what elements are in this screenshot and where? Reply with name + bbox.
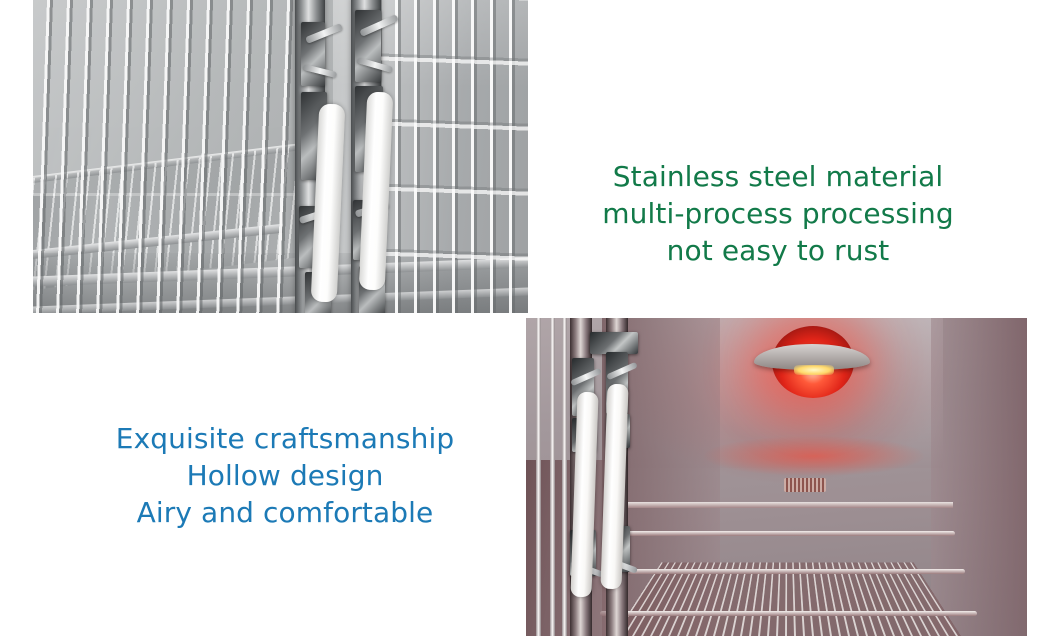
caption-stainless-line-2: multi-process processing (602, 195, 953, 232)
cage-grate-back-edge (624, 502, 953, 508)
cage-doors-photo (33, 0, 528, 313)
cage-latch-plate-b1 (355, 10, 381, 82)
caption-craftsmanship-line-3: Airy and comfortable (116, 494, 454, 531)
caption-craftsmanship-line-1: Exquisite craftsmanship (116, 420, 454, 457)
product-feature-collage: Stainless steel material multi-process p… (0, 0, 1060, 636)
cage-interior-wall-right (931, 318, 1027, 636)
red-cage-wire-2 (550, 318, 555, 636)
caption-stainless-line-3: not easy to rust (602, 232, 953, 269)
red-cage-wire-3 (562, 318, 567, 636)
caption-craftsmanship: Exquisite craftsmanship Hollow design Ai… (116, 420, 454, 532)
cage-grate-rail-3 (600, 611, 977, 616)
cage-interior-vent (784, 478, 826, 492)
red-interior-photo (526, 318, 1027, 636)
caption-craftsmanship-line-2: Hollow design (116, 457, 454, 494)
cage-wire-bars-left (33, 0, 301, 313)
heat-lamp-glow (704, 436, 924, 476)
cage-grate-rail-1 (622, 531, 955, 536)
red-latch-top-bracket (590, 332, 638, 354)
cage-grate-rail-2 (612, 569, 965, 574)
heat-lamp-filament (794, 365, 834, 375)
caption-stainless-steel: Stainless steel material multi-process p… (602, 158, 953, 270)
caption-stainless-line-1: Stainless steel material (602, 158, 953, 195)
red-cage-wire-1 (536, 318, 541, 636)
